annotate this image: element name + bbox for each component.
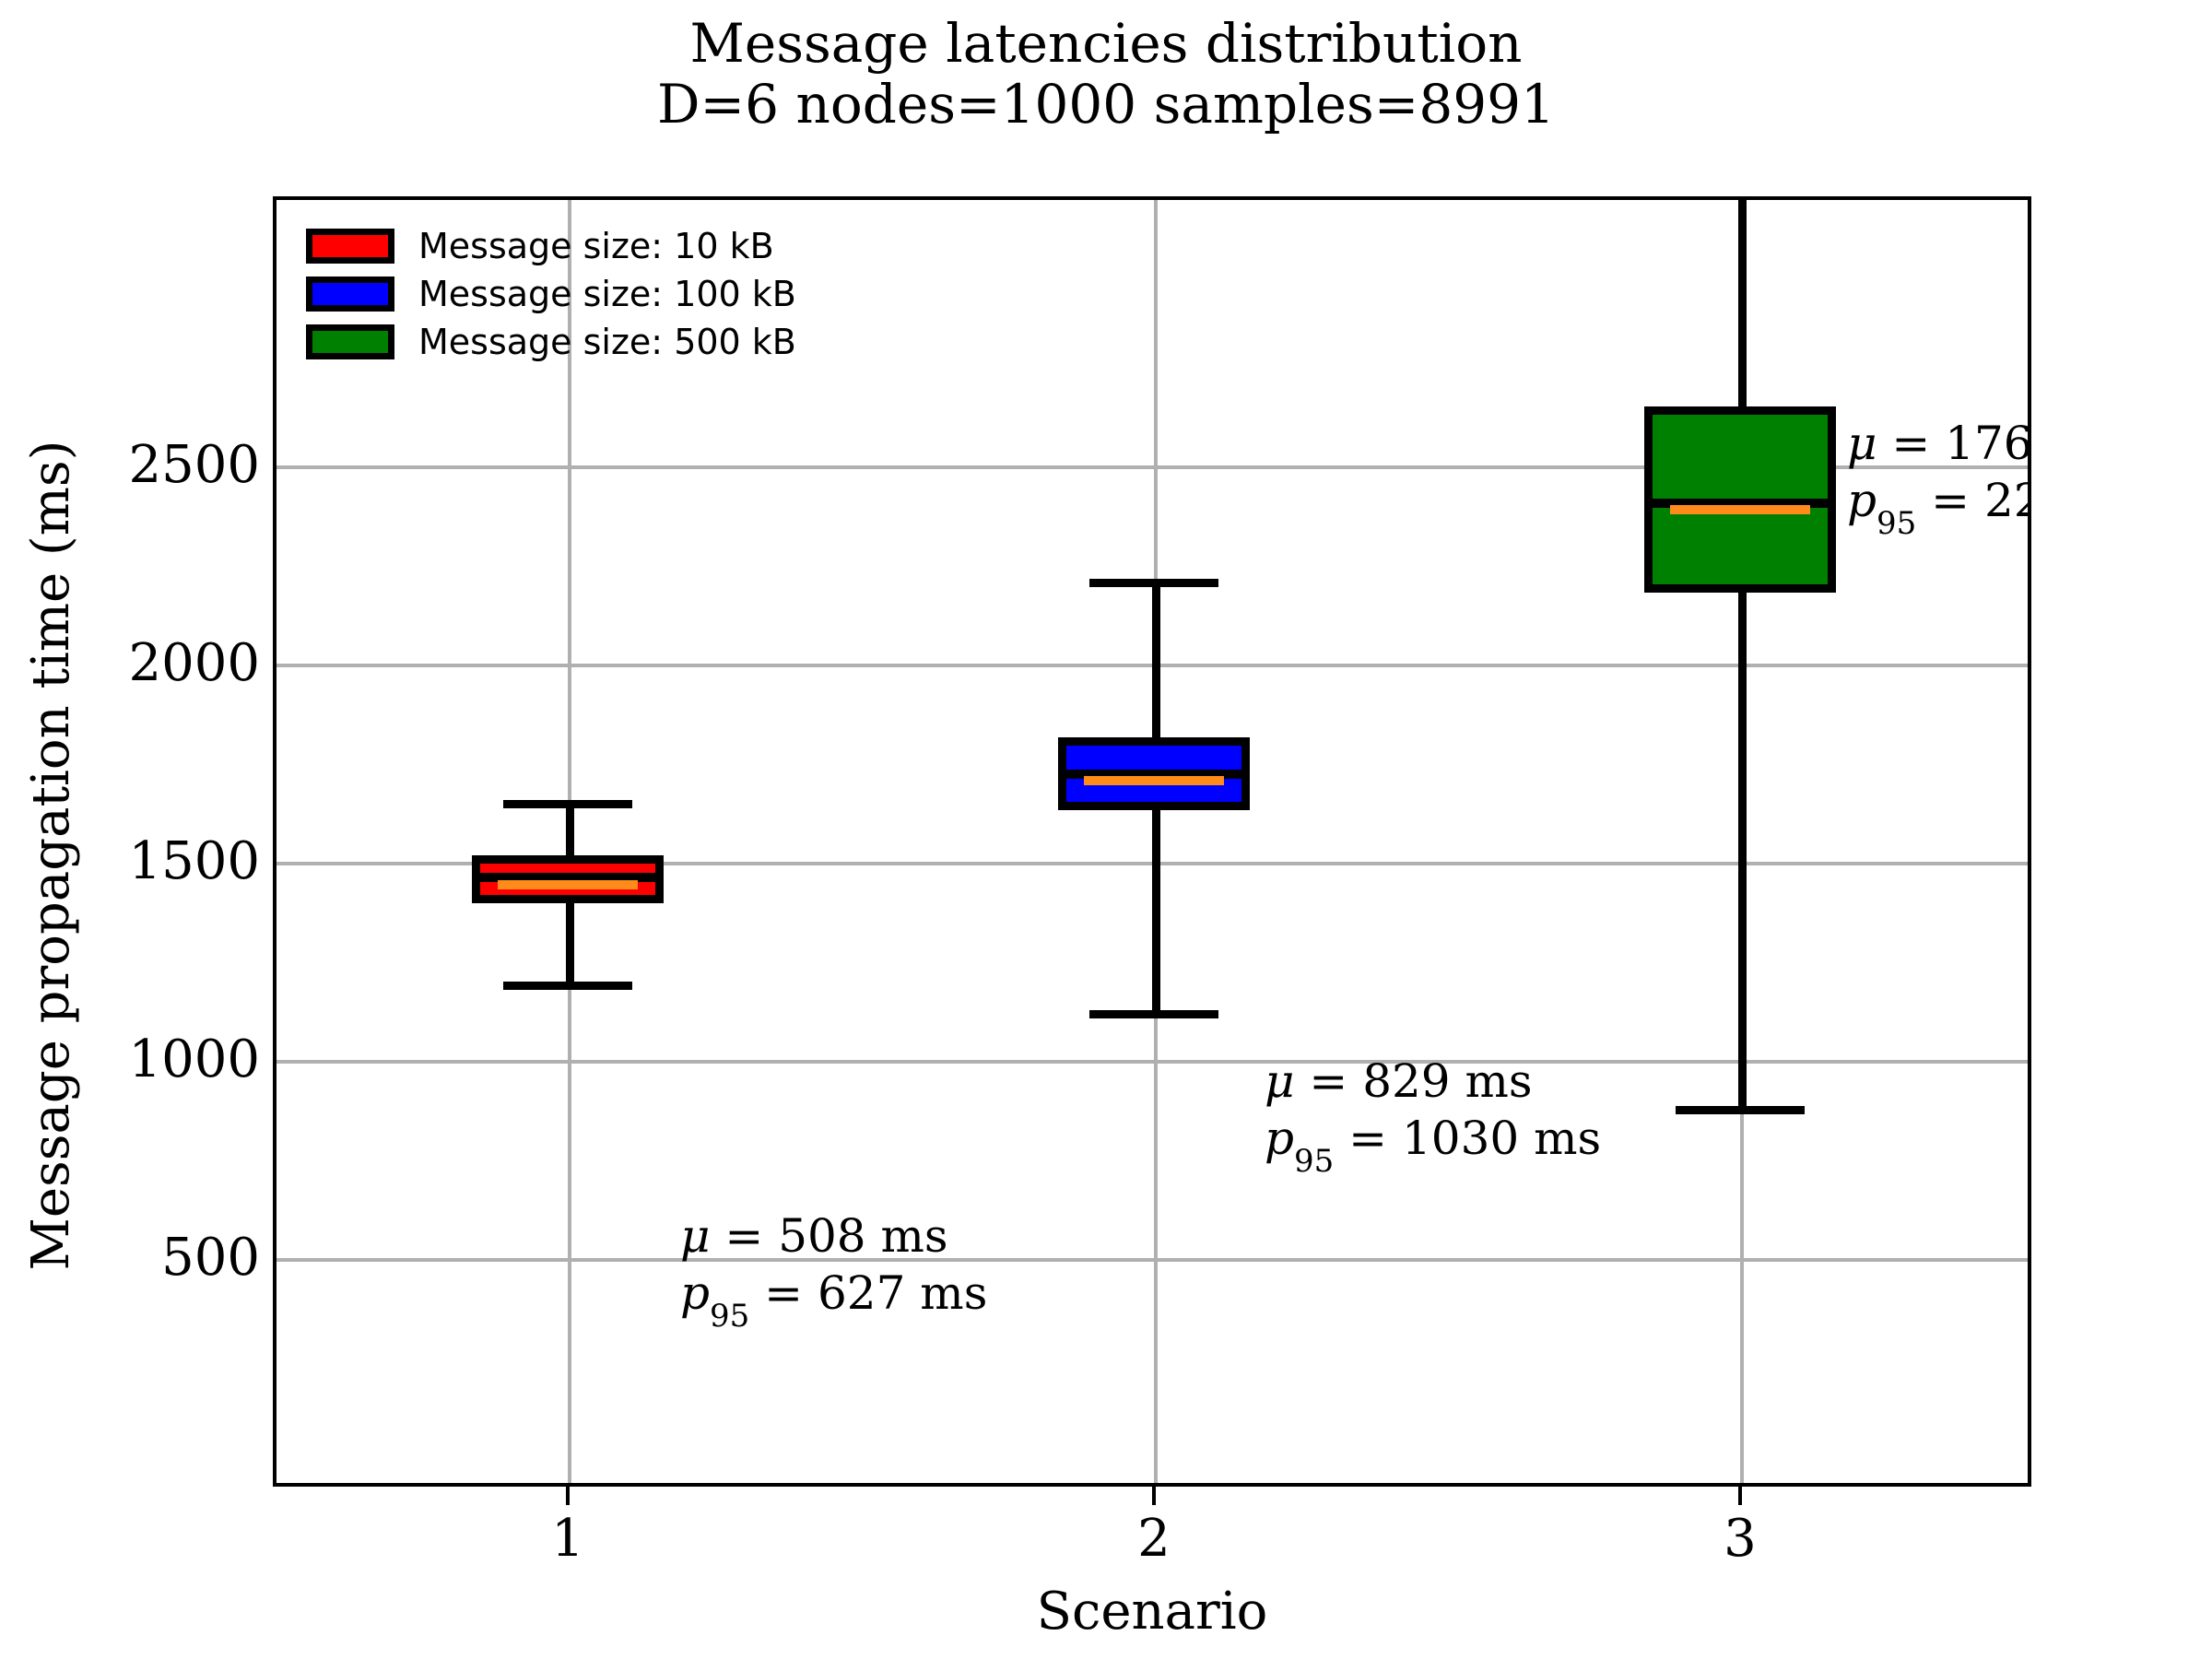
annotation-mean-2: μ = 829 ms [1265, 1053, 1601, 1110]
annotation-mean-3: μ = 1769 ms [1847, 415, 2028, 472]
ytick-label-1000: 1000 [128, 1034, 260, 1086]
p-symbol-1: p [680, 1266, 710, 1320]
whisker-lower-2 [1152, 810, 1160, 1014]
ytick-label-1500: 1500 [128, 836, 260, 888]
ytick-label-2500: 2500 [128, 440, 260, 491]
xtick-label-2: 2 [1080, 1512, 1228, 1567]
gridline-y-500 [276, 1258, 2028, 1262]
mean-line-1 [498, 880, 638, 889]
chart-figure: Message latencies distribution D=6 nodes… [0, 0, 2212, 1659]
x-axis-label: Scenario [273, 1583, 2031, 1641]
p-subscript-1: 95 [710, 1298, 749, 1335]
legend-label-10kb: Message size: 10 kB [418, 228, 774, 265]
annotation-scenario-2: μ = 829 ms p95 = 1030 ms [1265, 1053, 1601, 1167]
mean-line-3 [1670, 505, 1810, 514]
whisker-cap-lower-1 [503, 982, 632, 990]
p-symbol-2: p [1265, 1112, 1294, 1165]
legend: Message size: 10 kB Message size: 100 kB… [297, 217, 806, 371]
plot-frame: Message size: 10 kB Message size: 100 kB… [273, 196, 2031, 1487]
whisker-cap-upper-1 [503, 800, 632, 808]
legend-item-10kb[interactable]: Message size: 10 kB [306, 222, 796, 270]
legend-item-500kb[interactable]: Message size: 500 kB [306, 318, 796, 366]
chart-title: Message latencies distribution D=6 nodes… [0, 13, 2212, 135]
gridline-y-1000 [276, 1060, 2028, 1064]
annotation-scenario-3: μ = 1769 ms p95 = 2221 ms [1847, 415, 2028, 529]
annotation-p95-2: p95 = 1030 ms [1265, 1110, 1601, 1167]
mu-value-1: 508 ms [778, 1209, 947, 1263]
whisker-cap-lower-3 [1676, 1106, 1805, 1114]
plot-area: Message size: 10 kB Message size: 100 kB… [276, 200, 2028, 1483]
p-equals-1: = [749, 1266, 818, 1320]
whisker-lower-1 [566, 903, 574, 985]
legend-swatch-green [306, 324, 394, 359]
whisker-upper-2 [1152, 582, 1160, 737]
p-symbol-3: p [1847, 474, 1877, 527]
xtick-major-2 [1152, 1487, 1156, 1505]
p-value-1: 627 ms [818, 1266, 987, 1320]
chart-title-line-1: Message latencies distribution [0, 13, 2212, 74]
legend-label-100kb: Message size: 100 kB [418, 276, 796, 312]
y-axis-label: Message propagation time (ms) [24, 210, 79, 1500]
whisker-cap-lower-2 [1089, 1010, 1218, 1018]
whisker-cap-upper-2 [1089, 579, 1218, 587]
annotation-scenario-1: μ = 508 ms p95 = 627 ms [680, 1207, 987, 1322]
p-subscript-2: 95 [1294, 1143, 1334, 1180]
mu-symbol-3: μ = [1847, 417, 1945, 470]
legend-label-500kb: Message size: 500 kB [418, 324, 796, 360]
p-value-2: 1030 ms [1402, 1112, 1601, 1165]
mu-value-2: 829 ms [1362, 1054, 1532, 1108]
xtick-label-3: 3 [1666, 1512, 1814, 1567]
xtick-major-3 [1738, 1487, 1742, 1505]
p-equals-2: = [1334, 1112, 1402, 1165]
mu-value-3: 1769 ms [1945, 417, 2028, 470]
mu-symbol-1: μ = [680, 1209, 778, 1263]
mean-line-2 [1084, 776, 1224, 785]
annotation-p95-1: p95 = 627 ms [680, 1265, 987, 1322]
legend-swatch-red [306, 229, 394, 264]
whisker-upper-1 [566, 804, 574, 855]
legend-swatch-blue [306, 276, 394, 312]
p-value-3: 2221 ms [1984, 474, 2028, 527]
annotation-p95-3: p95 = 2221 ms [1847, 472, 2028, 529]
whisker-lower-3 [1738, 593, 1747, 1110]
p-subscript-3: 95 [1877, 505, 1916, 542]
mu-symbol-2: μ = [1265, 1054, 1362, 1108]
legend-item-100kb[interactable]: Message size: 100 kB [306, 270, 796, 318]
xtick-label-1: 1 [494, 1512, 641, 1567]
ytick-label-500: 500 [161, 1232, 260, 1284]
annotation-mean-1: μ = 508 ms [680, 1207, 987, 1265]
ytick-label-2000: 2000 [128, 638, 260, 689]
p-equals-3: = [1916, 474, 1984, 527]
whisker-upper-3 [1738, 200, 1747, 406]
chart-title-line-2: D=6 nodes=1000 samples=8991 [0, 74, 2212, 135]
xtick-major-1 [566, 1487, 570, 1505]
